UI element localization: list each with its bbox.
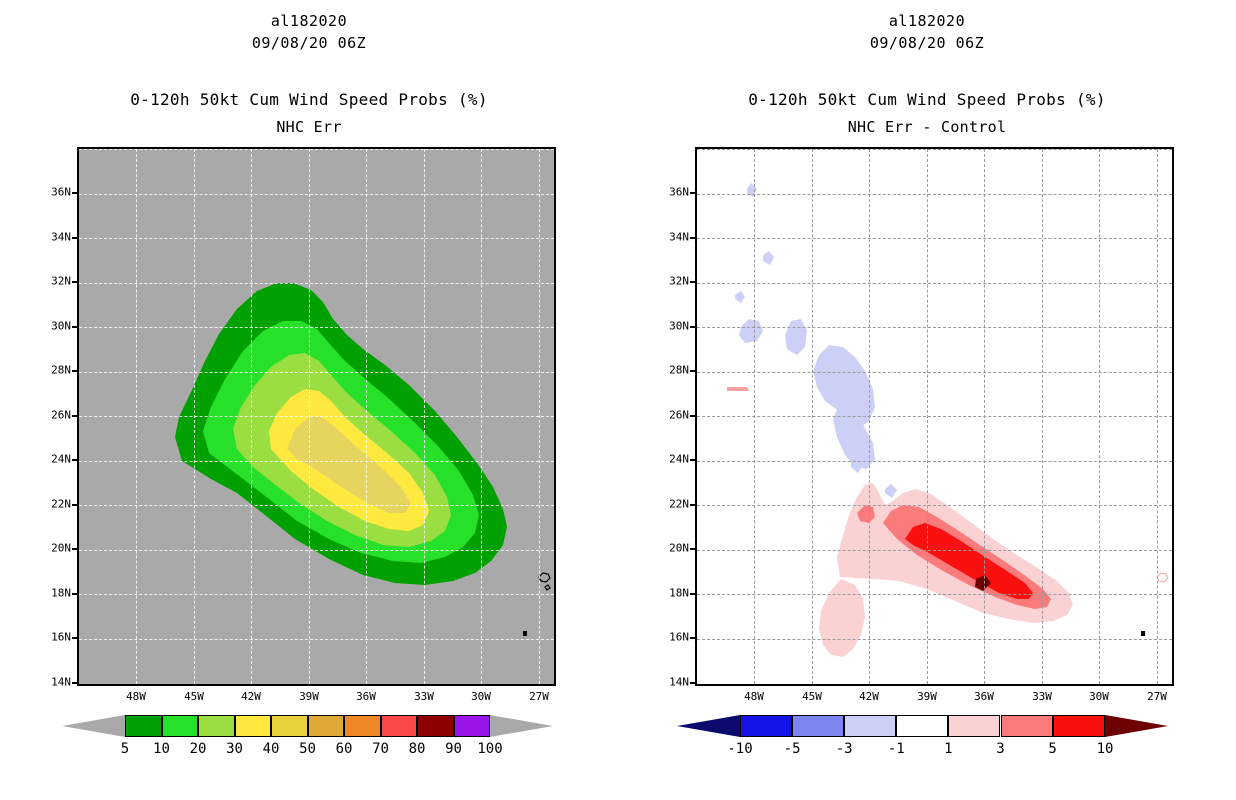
right-cb-tick-minus5: -5 [770, 741, 814, 757]
left-plot-title: 0-120h 50kt Cum Wind Speed Probs (%) [0, 90, 618, 109]
right-cb-tick-minus1: -1 [874, 741, 918, 757]
right-cb-tick-10: 10 [1083, 741, 1127, 757]
left-colorbar-under-arrow [62, 715, 125, 737]
left-plot-area [77, 147, 556, 686]
right-plot-title: 0-120h 50kt Cum Wind Speed Probs (%) [618, 90, 1236, 109]
right-cb-tick-minus10: -10 [718, 741, 762, 757]
left-storm-id: al182020 [0, 12, 618, 30]
left-colorbar[interactable]: 5 10 20 30 40 50 60 70 80 90 100 [125, 715, 490, 737]
right-cb-tick-minus3: -3 [822, 741, 866, 757]
right-datetime: 09/08/20 06Z [618, 34, 1236, 52]
right-gridlines [697, 149, 1172, 684]
right-colorbar-over-arrow [1105, 715, 1168, 737]
left-gridlines [79, 149, 554, 684]
left-cb-tick-100: 100 [468, 741, 512, 757]
right-cb-tick-5: 5 [1031, 741, 1075, 757]
left-plot-subtitle: NHC Err [0, 118, 618, 136]
right-colorbar-under-arrow [677, 715, 740, 737]
left-marker-dot [523, 631, 527, 636]
right-marker-dot [1141, 631, 1145, 636]
right-colorbar[interactable]: -10 -5 -3 -1 1 3 5 10 [740, 715, 1105, 737]
left-colorbar-over-arrow [490, 715, 553, 737]
left-datetime: 09/08/20 06Z [0, 34, 618, 52]
right-plot-subtitle: NHC Err - Control [618, 118, 1236, 136]
panel-nhc-err: al182020 09/08/20 06Z 0-120h 50kt Cum Wi… [0, 0, 618, 800]
right-cb-tick-1: 1 [926, 741, 970, 757]
right-storm-id: al182020 [618, 12, 1236, 30]
right-plot-area [695, 147, 1174, 686]
right-cb-tick-3: 3 [979, 741, 1023, 757]
